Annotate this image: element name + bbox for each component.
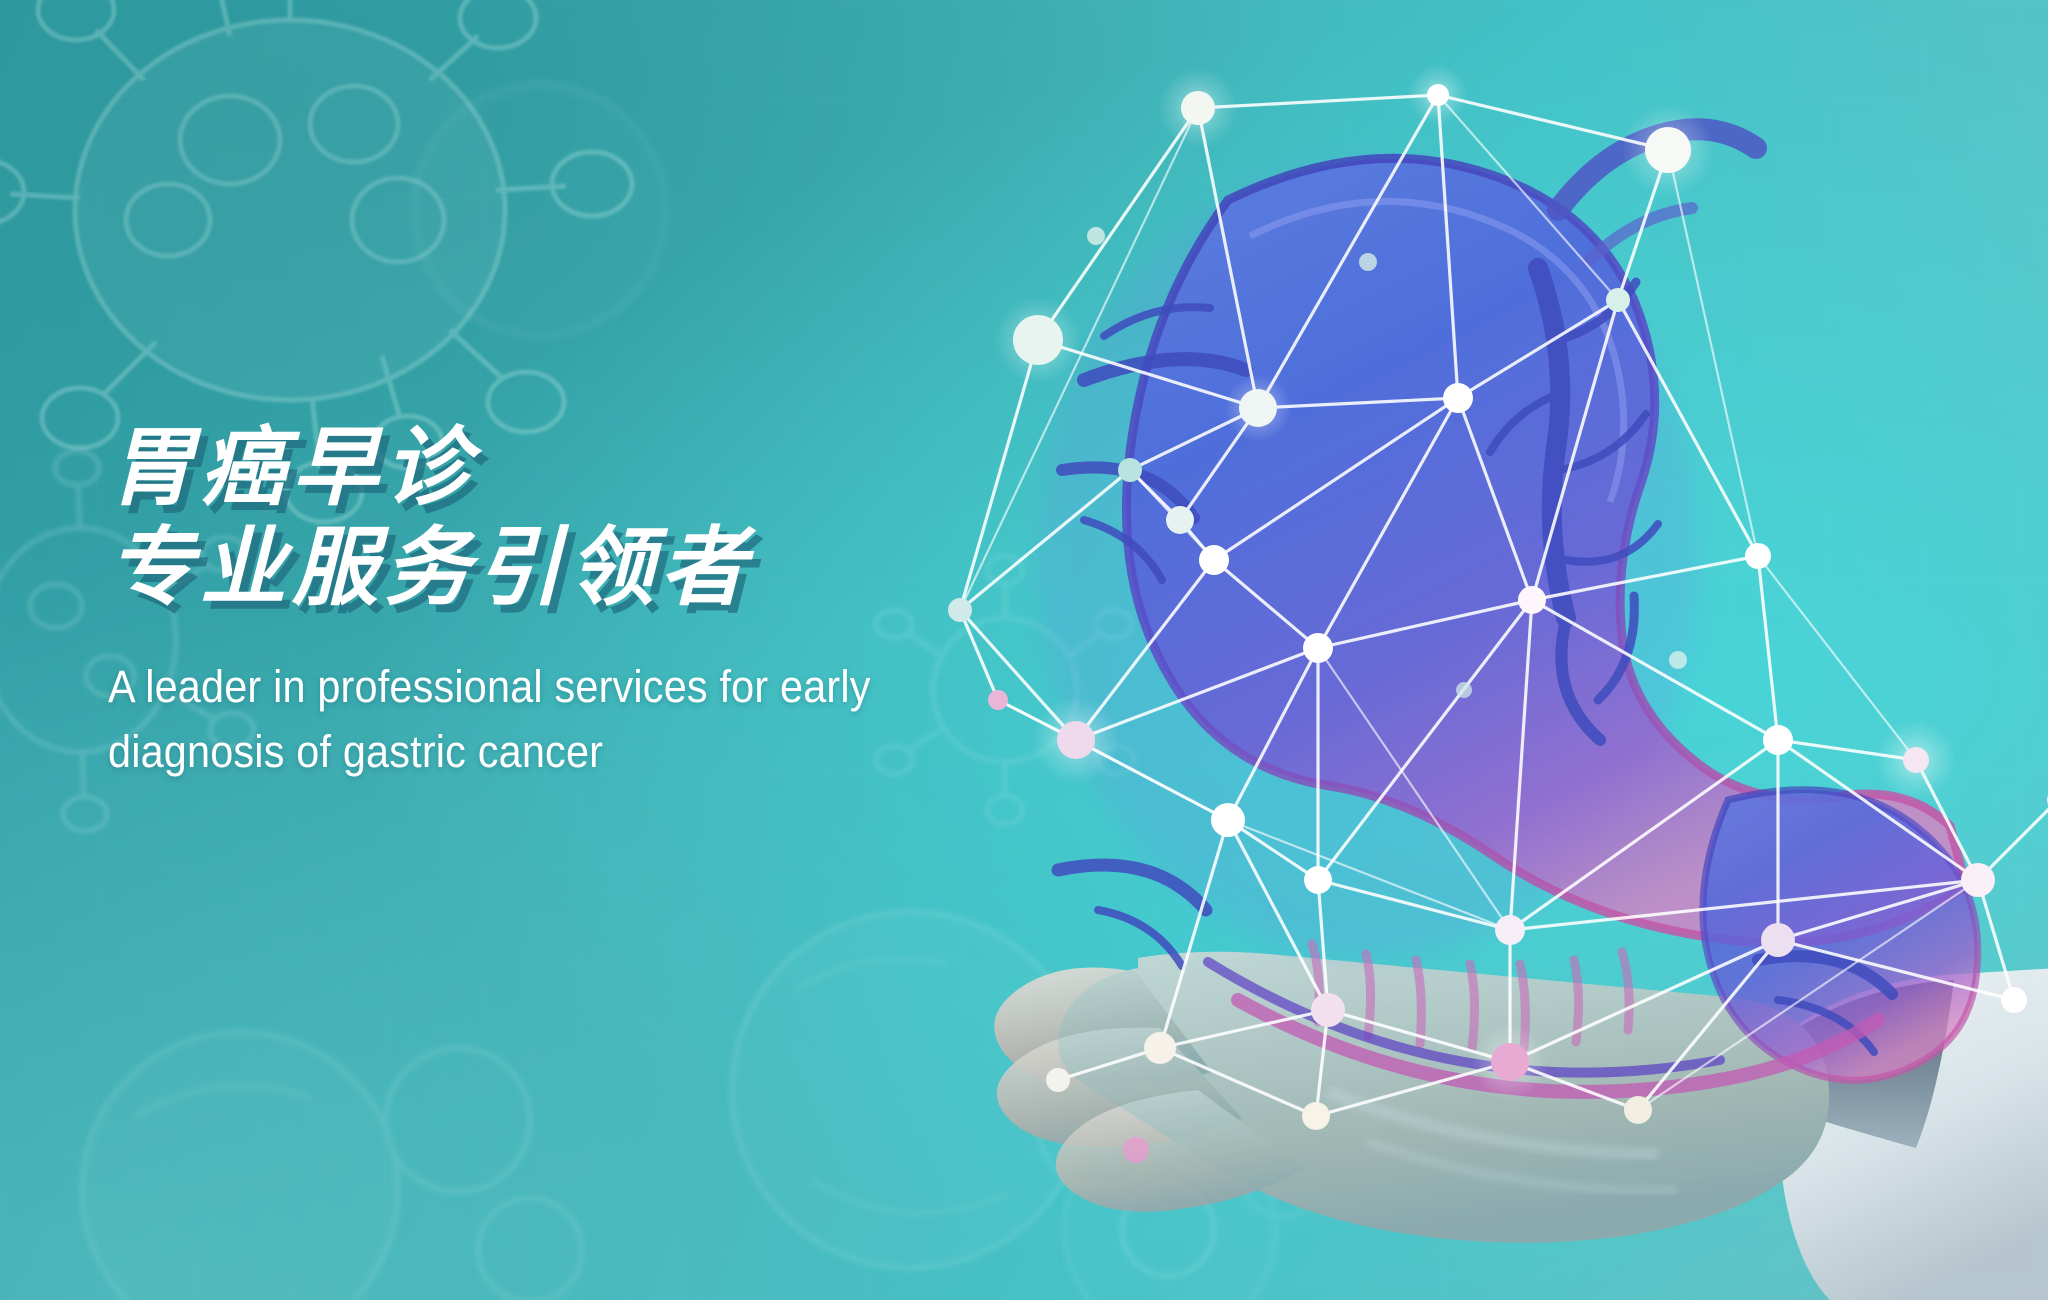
subtitle-line-2: diagnosis of gastric cancer — [108, 719, 1037, 784]
headline-line-2: 专业服务引领者 — [108, 518, 1118, 618]
subtitle-line-1: A leader in professional services for ea… — [108, 654, 1037, 719]
stomach-organ — [1038, 129, 1978, 1092]
headline-block: 胃癌早诊 专业服务引领者 A leader in professional se… — [108, 418, 1118, 784]
gastric-cancer-banner: 胃癌早诊 专业服务引领者 A leader in professional se… — [0, 0, 2048, 1300]
headline-line-1: 胃癌早诊 — [108, 418, 1118, 518]
subtitle-block: A leader in professional services for ea… — [108, 654, 1037, 784]
